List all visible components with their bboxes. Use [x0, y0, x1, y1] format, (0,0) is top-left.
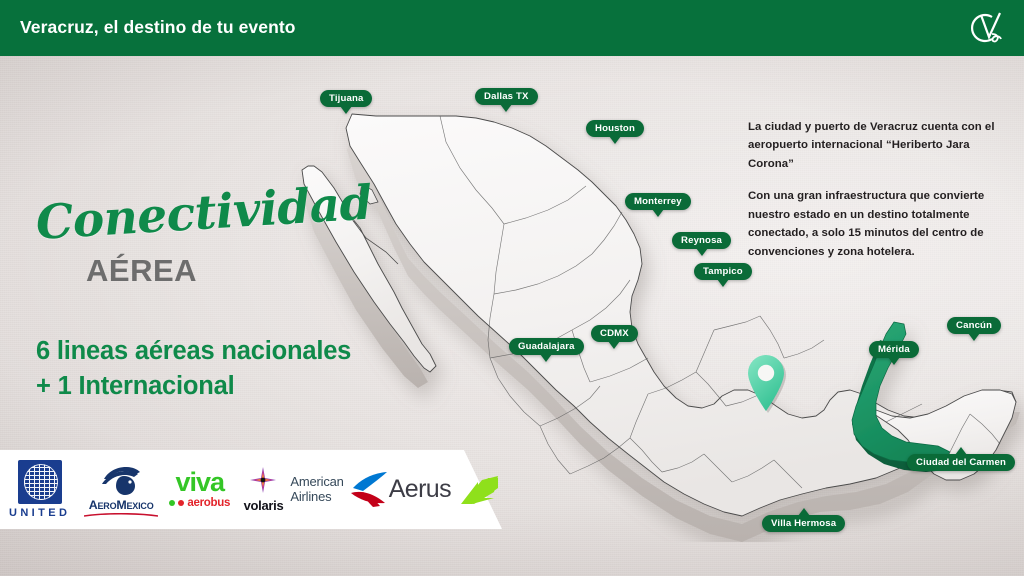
city-label-tijuana: Tijuana: [320, 90, 372, 114]
city-label-monterrey: Monterrey: [625, 193, 691, 217]
aeromexico-swoosh-icon: [84, 513, 158, 517]
volaris-wordmark: volaris: [244, 498, 284, 513]
city-label-pointer: [888, 357, 900, 365]
city-label-m-rida: Mérida: [869, 341, 919, 365]
poster-canvas: TijuanaDallas TXHoustonMonterreyReynosaT…: [0, 0, 1024, 576]
city-label-pointer: [340, 106, 352, 114]
volaris-star-icon: [250, 467, 276, 493]
american-airlines-eagle-icon: [347, 471, 389, 509]
city-label-guadalajara: Guadalajara: [509, 338, 584, 362]
city-label-houston: Houston: [586, 120, 644, 144]
airline-logo-american-airlines: American Airlines: [290, 450, 388, 529]
american-line-2: Airlines: [290, 490, 343, 504]
city-label-pointer: [540, 354, 552, 362]
page-title: Veracruz, el destino de tu evento: [20, 17, 296, 38]
city-label-pointer: [652, 209, 664, 217]
aeromexico-wordmark: AeroMexico: [89, 498, 154, 512]
united-globe-icon: [18, 460, 62, 504]
aerus-wordmark: Aerus: [389, 475, 451, 504]
american-line-1: American: [290, 475, 343, 489]
city-label-dallas-tx: Dallas TX: [475, 88, 538, 112]
city-label-reynosa: Reynosa: [672, 232, 731, 256]
city-label-pointer: [696, 248, 708, 256]
airline-logo-volaris: volaris: [237, 450, 291, 529]
info-paragraph-1: La ciudad y puerto de Veracruz cuenta co…: [748, 118, 998, 173]
city-label-canc-n: Cancún: [947, 317, 1001, 341]
city-label-text: Mérida: [869, 341, 919, 358]
city-label-pointer: [717, 279, 729, 287]
viva-sub: aerobus: [169, 497, 230, 509]
info-block: La ciudad y puerto de Veracruz cuenta co…: [748, 118, 998, 261]
pitch-line-1: 6 lineas aéreas nacionales: [36, 334, 466, 369]
city-label-text: Tijuana: [320, 90, 372, 107]
airline-logo-united: UNITED: [0, 450, 79, 529]
city-label-tampico: Tampico: [694, 263, 752, 287]
city-label-text: Cancún: [947, 317, 1001, 334]
airline-logo-aerus: Aerus: [389, 450, 500, 529]
viva-green-dot-icon: [169, 500, 175, 506]
pitch-line-2: + 1 Internacional: [36, 369, 466, 404]
viva-red-dot-icon: [178, 500, 184, 506]
city-label-text: Villa Hermosa: [762, 515, 845, 532]
city-label-text: Dallas TX: [475, 88, 538, 105]
location-pin-icon: [744, 352, 790, 414]
airline-logo-aeromexico: AeroMexico: [79, 450, 163, 529]
city-label-pointer: [609, 136, 621, 144]
aerus-arrow-icon: [458, 474, 500, 506]
city-label-text: CDMX: [591, 325, 638, 342]
city-label-text: Guadalajara: [509, 338, 584, 355]
airline-logo-viva-aerobus: viva aerobus: [163, 450, 237, 529]
city-label-text: Houston: [586, 120, 644, 137]
city-label-text: Monterrey: [625, 193, 691, 210]
united-wordmark: UNITED: [9, 507, 70, 519]
city-label-text: Ciudad del Carmen: [907, 454, 1015, 471]
american-airlines-wordmark: American Airlines: [290, 475, 343, 503]
headline-sub: AÉREA: [86, 253, 197, 289]
city-label-pointer: [608, 341, 620, 349]
aeromexico-eagle-icon: [98, 463, 144, 497]
pitch-text: 6 lineas aéreas nacionales + 1 Internaci…: [36, 334, 466, 404]
cv-monogram-logo-icon: [962, 4, 1010, 52]
city-label-cdmx: CDMX: [591, 325, 638, 349]
city-label-text: Tampico: [694, 263, 752, 280]
city-label-pointer: [968, 333, 980, 341]
viva-wordmark: viva: [175, 470, 224, 496]
aerobus-wordmark: aerobus: [187, 497, 230, 509]
city-label-villa-hermosa: Villa Hermosa: [762, 508, 845, 532]
airline-logo-bar: UNITED AeroMexico viva: [0, 450, 520, 529]
city-label-pointer: [500, 104, 512, 112]
city-label-ciudad-del-carmen: Ciudad del Carmen: [907, 447, 1015, 471]
header-bar: Veracruz, el destino de tu evento: [0, 0, 1024, 56]
info-paragraph-2: Con una gran infraestructura que convier…: [748, 187, 998, 261]
city-label-text: Reynosa: [672, 232, 731, 249]
